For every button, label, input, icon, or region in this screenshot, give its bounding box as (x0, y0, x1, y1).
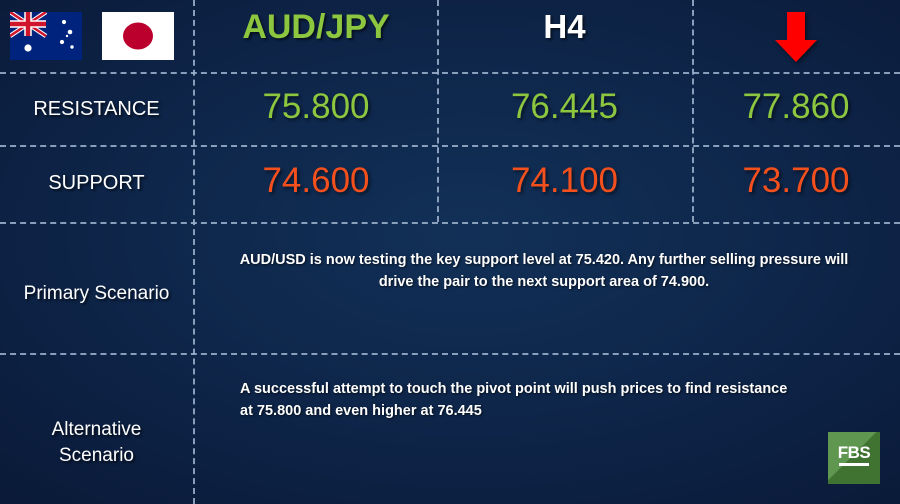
alternative-scenario-label-line1: Alternative (52, 419, 142, 440)
grid-line-horizontal-resistance (0, 145, 900, 147)
forex-analysis-card: AUD/JPY H4 RESISTANCE 75.800 76.445 77.8… (0, 0, 900, 504)
alternative-scenario-text: A successful attempt to touch the pivot … (240, 379, 800, 423)
resistance-label: RESISTANCE (0, 98, 193, 121)
grid-line-horizontal-header (0, 72, 900, 74)
support-value-3: 73.700 (692, 161, 900, 201)
alternative-scenario-label-line2: Scenario (59, 445, 134, 466)
fbs-logo-text: FBS (828, 444, 880, 461)
trend-direction-cell (692, 4, 900, 70)
grid-line-vertical-label-column (193, 0, 195, 504)
support-value-1: 74.600 (195, 161, 437, 201)
currency-pair-title: AUD/JPY (195, 8, 437, 47)
support-label: SUPPORT (0, 172, 193, 195)
grid-line-horizontal-primary (0, 353, 900, 355)
resistance-value-1: 75.800 (195, 87, 437, 127)
currency-flags (10, 12, 174, 60)
grid-line-horizontal-support (0, 222, 900, 224)
support-value-2: 74.100 (437, 161, 692, 201)
alternative-scenario-label: Alternative Scenario (0, 417, 193, 468)
primary-scenario-label: Primary Scenario (0, 281, 193, 307)
timeframe-title: H4 (437, 8, 692, 46)
fbs-logo: FBS (828, 432, 880, 484)
arrow-down-icon (774, 10, 818, 64)
resistance-value-2: 76.445 (437, 87, 692, 127)
australia-flag (10, 12, 82, 60)
fbs-logo-underline (839, 463, 869, 466)
japan-flag (102, 12, 174, 60)
primary-scenario-text: AUD/USD is now testing the key support l… (238, 250, 850, 294)
resistance-value-3: 77.860 (692, 87, 900, 127)
